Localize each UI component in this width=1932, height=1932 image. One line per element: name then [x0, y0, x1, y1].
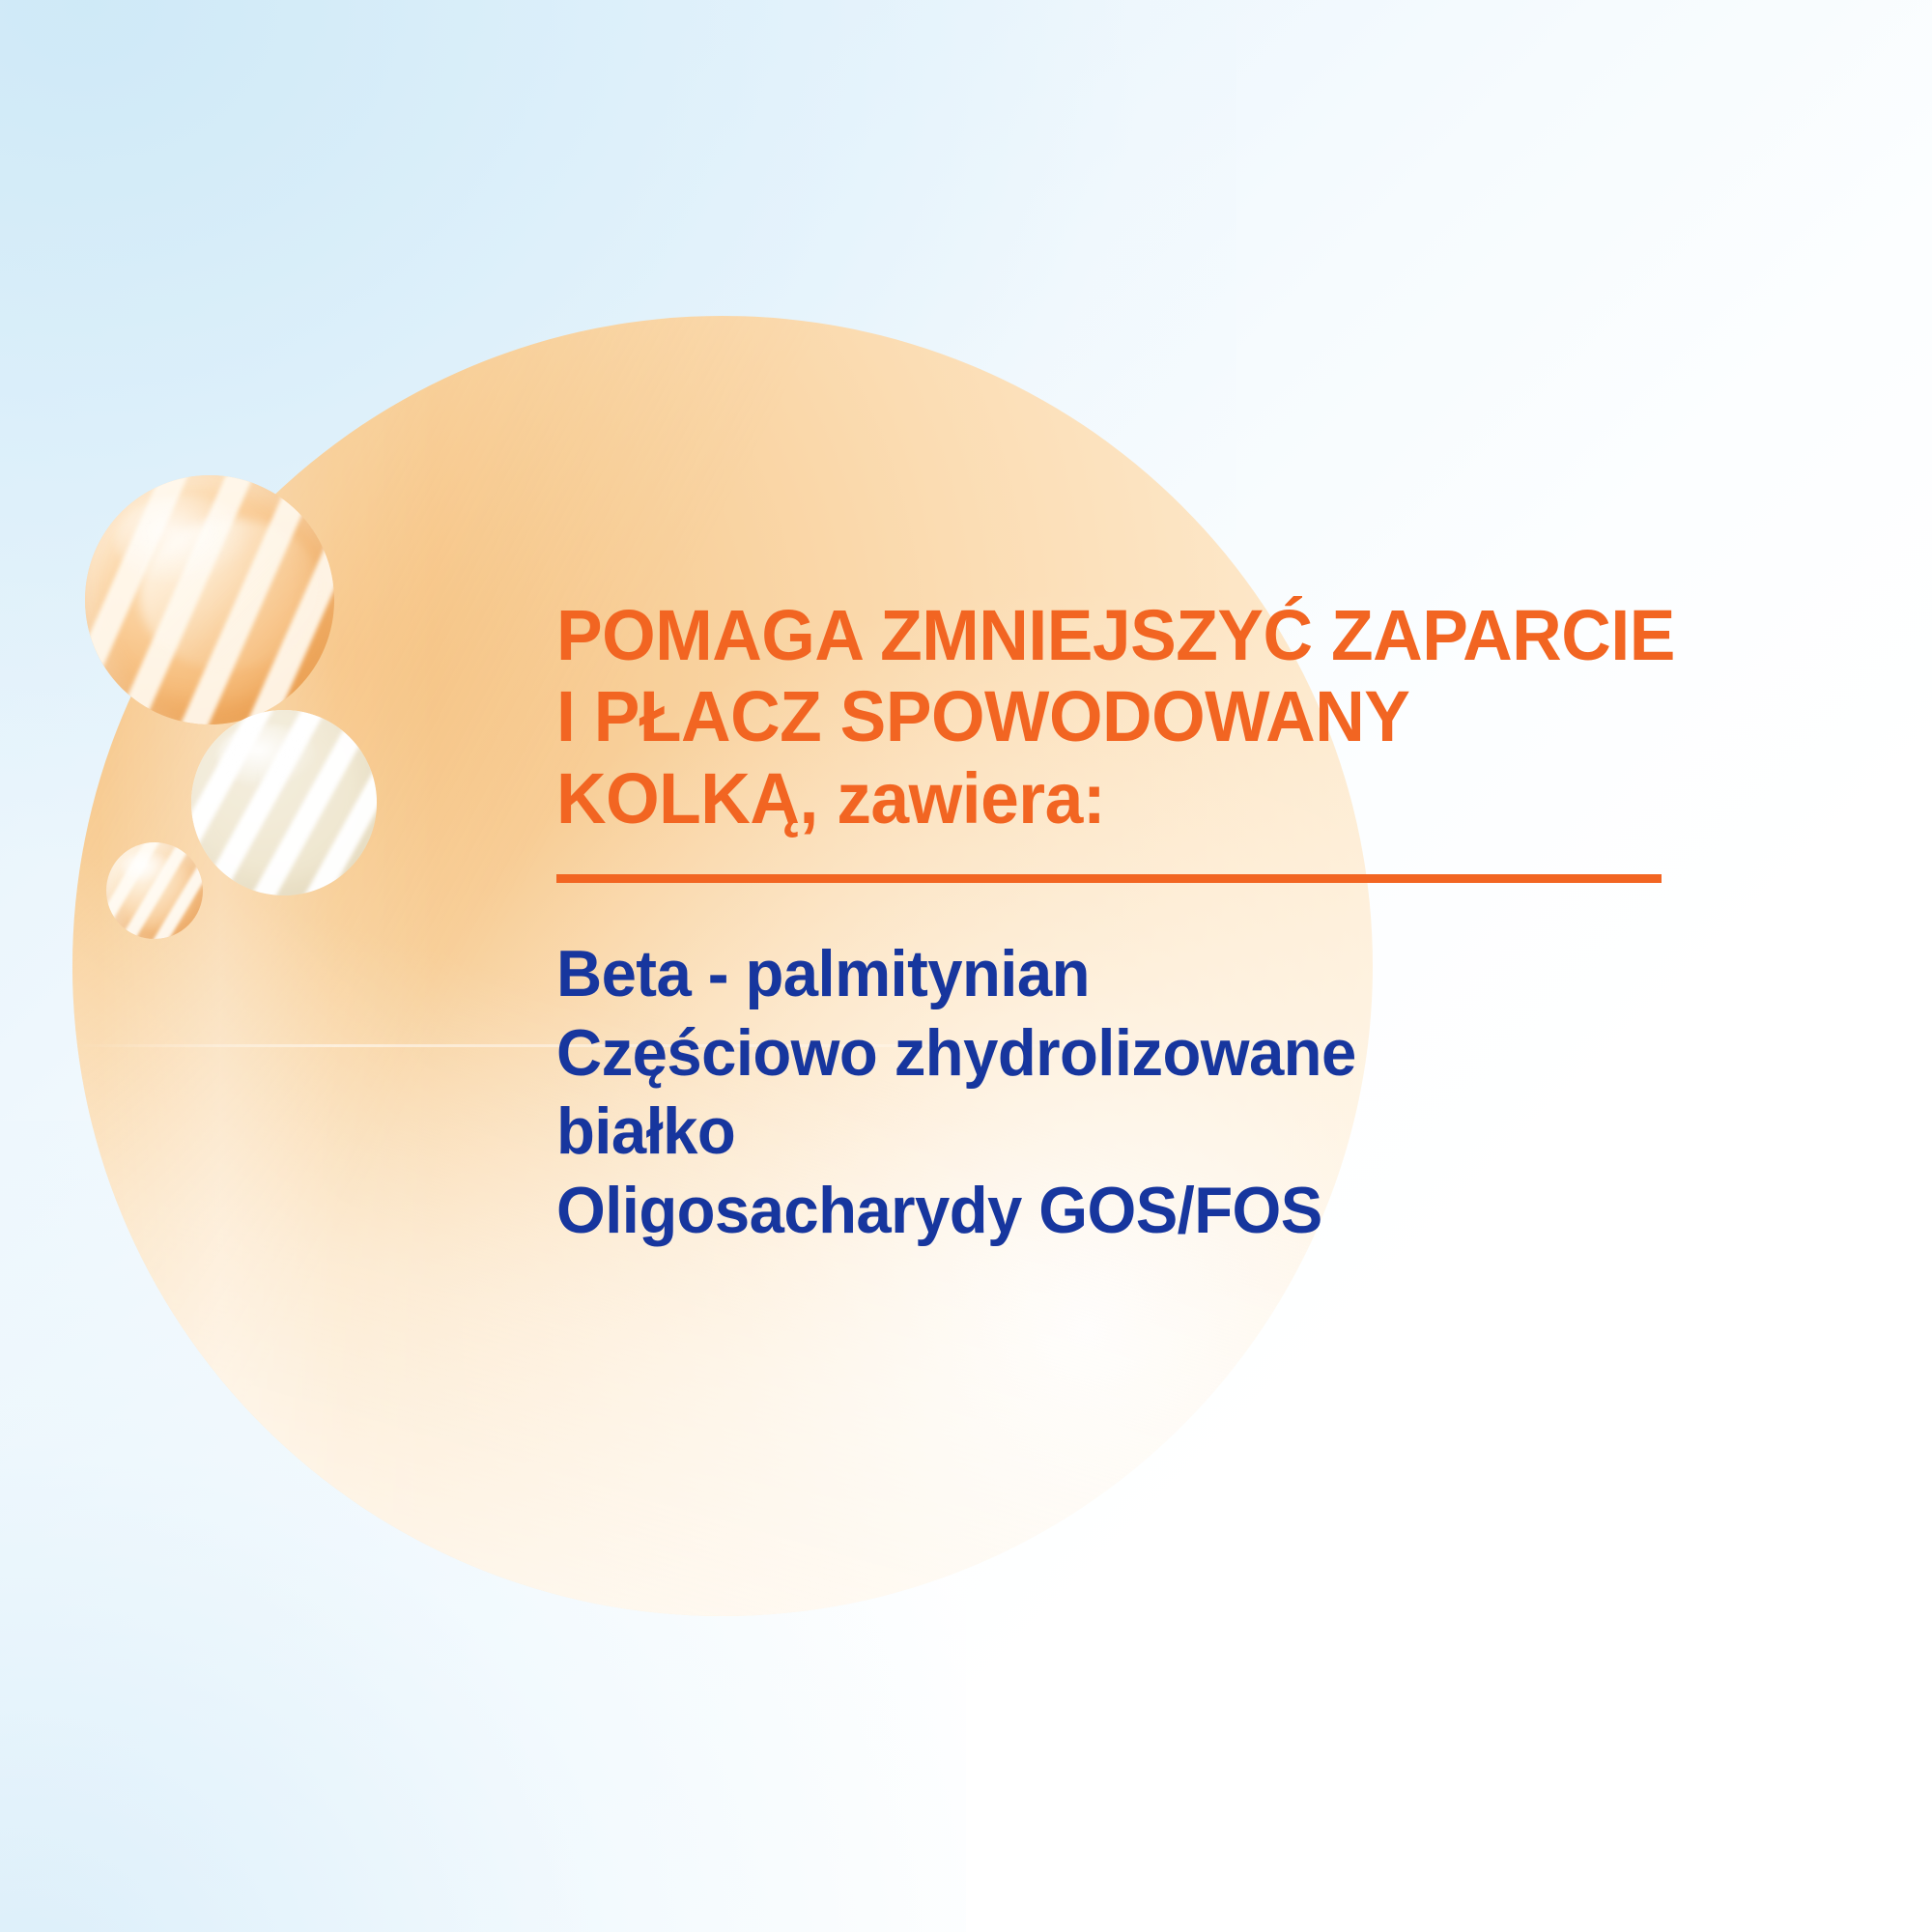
section-divider — [556, 874, 1662, 883]
sphere-gloss — [217, 724, 318, 787]
ingredient-item: białko — [556, 1093, 1716, 1172]
ingredient-item: Oligosacharydy GOS/FOS — [556, 1172, 1716, 1251]
sphere-gloss — [122, 852, 172, 883]
sphere-gloss — [115, 496, 254, 585]
ingredient-item: Częściowo zhydrolizowane — [556, 1014, 1716, 1094]
headline-line-3-lower: zawiera: — [837, 758, 1105, 838]
headline: POMAGA ZMNIEJSZYĆ ZAPARCIEI PŁACZ SPOWOD… — [556, 595, 1721, 839]
headline-line-2: I PŁACZ SPOWODOWANY — [556, 676, 1409, 756]
white-striped-sphere — [191, 710, 377, 895]
headline-line-1: POMAGA ZMNIEJSZYĆ ZAPARCIE — [556, 595, 1675, 675]
content-block: POMAGA ZMNIEJSZYĆ ZAPARCIEI PŁACZ SPOWOD… — [556, 595, 1764, 1250]
ingredient-item: Beta - palmitynian — [556, 935, 1716, 1014]
orange-striped-sphere — [85, 475, 334, 724]
small-droplet-sphere — [106, 842, 203, 939]
ingredient-list: Beta - palmitynian Częściowo zhydrolizow… — [556, 935, 1716, 1250]
poster-canvas: POMAGA ZMNIEJSZYĆ ZAPARCIEI PŁACZ SPOWOD… — [0, 0, 1932, 1932]
headline-line-3-caps: KOLKĄ, — [556, 758, 818, 838]
